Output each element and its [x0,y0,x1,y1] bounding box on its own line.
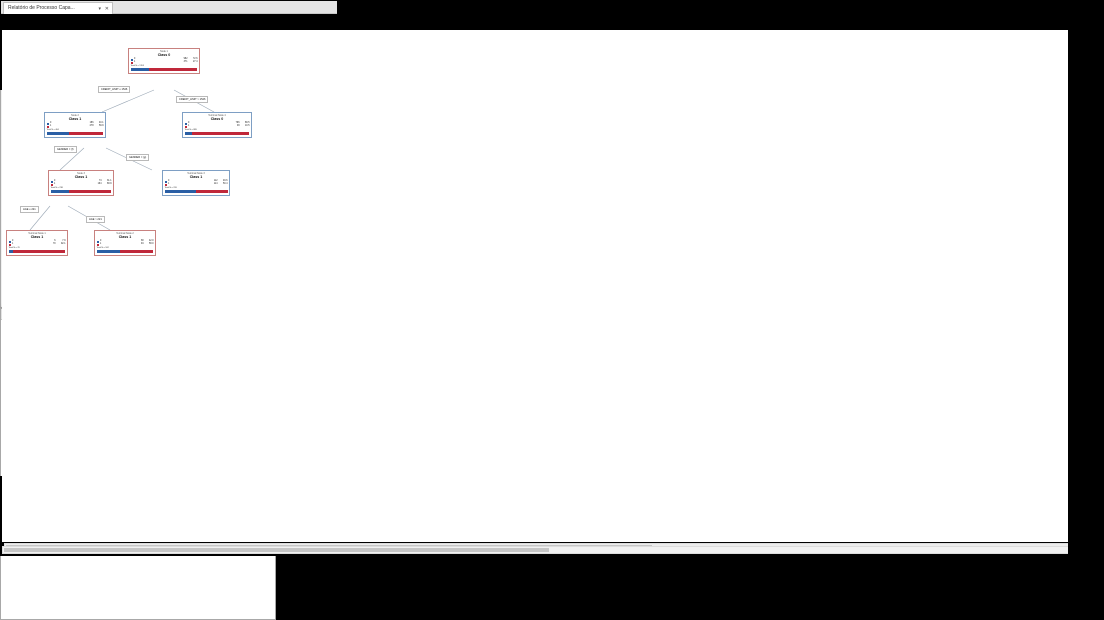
cart-tree-canvas: Node 1Class 0098272.6137127.4Total N = 1… [2,30,1094,542]
cart-node[interactable]: Terminal Node 4Class 0079689.519310.5Tot… [182,112,252,138]
cart-node-title: Class 1 [47,117,104,121]
cart-node[interactable]: Terminal Node 3Class 1011249.6111450.4To… [162,170,230,196]
class-swatch [51,184,54,187]
cart-node-bar [51,190,112,193]
class-swatch [165,184,168,187]
cart-node[interactable]: Node 3Class 107431.1116468.9Total N = 23… [48,170,114,196]
class-pct: 27.4 [189,61,198,64]
class-pct: 59.9 [95,125,104,128]
cart-tree-edges [2,30,1094,542]
cart-node-bar [131,68,198,71]
cart-node-bar [165,190,228,193]
class-count: 278 [57,125,94,128]
class-swatch [47,126,50,129]
cart-node-row: 116468.9 [51,183,112,186]
cart-split-label: AGE ≤ 221 [20,206,39,213]
cart-split-label: CREDIT_LIMIT > 1546 [176,96,208,103]
cart-node-row: 19458.0 [97,243,154,246]
cart-node-row: 17092.1 [9,243,66,246]
cart-split-label: CREDIT_LIMIT ≤ 1546 [98,86,130,93]
cart-node-title: Class 0 [185,117,250,121]
backdrop-right [1068,0,1104,556]
tab-process-capability-report[interactable]: Relatório de Processo Capa... ▾ ✕ [3,2,113,14]
class-swatch [97,244,100,247]
cart-node-table: 07431.1116468.9 [51,180,112,186]
class-pct: 10.5 [241,125,250,128]
class-label: 1 [54,183,60,186]
cart-node-table: 079689.519310.5 [185,122,250,128]
class-count: 114 [175,183,218,186]
class-count: 93 [195,125,240,128]
cart-node-bar [47,132,104,135]
cart-node-table: 098272.6137127.4 [131,58,198,64]
cart-node-title: Class 1 [9,235,66,239]
cart-node[interactable]: Terminal Node 1Class 1067.917092.1Total … [6,230,68,256]
cart-split-label: AGE > 221 [86,216,105,223]
cart-node[interactable]: Terminal Node 2Class 106842.019458.0Tota… [94,230,156,256]
cart-node-row: 137127.4 [131,61,198,64]
minitab-tab-bar: Relatório de Processo Capa... ▾ ✕ [1,1,337,14]
cart-node-title: Class 1 [97,235,154,239]
cart-node-title: Class 1 [165,175,228,179]
cart-classification-window[interactable]: 4 Node Alternative CART ®... SCORAD 4 No… [0,308,276,620]
class-pct: 50.4 [219,183,228,186]
chevron-down-icon[interactable]: ▾ [98,6,101,12]
cart-node-table: 067.917092.1 [9,240,66,246]
class-label: 1 [50,125,56,128]
scrollbar-thumb[interactable] [4,548,549,552]
class-pct: 92.1 [57,243,66,246]
class-count: 94 [107,243,144,246]
tab-label: Relatório de Processo Capa... [8,5,75,11]
cart-node-bar [97,250,154,253]
cart-node-table: 06842.019458.0 [97,240,154,246]
cart-node-row: 127859.9 [47,125,104,128]
cart-node-row: 111450.4 [165,183,228,186]
class-swatch [131,62,134,65]
class-label: 1 [188,125,194,128]
cart-node-table: 011249.6111450.4 [165,180,228,186]
cart-node-title: Class 1 [51,175,112,179]
class-label: 1 [134,61,140,64]
class-count: 70 [19,243,56,246]
class-pct: 68.9 [103,183,112,186]
class-swatch [9,244,12,247]
class-label: 1 [12,243,18,246]
class-pct: 58.0 [145,243,154,246]
cart-node[interactable]: Node 2Class 1018640.1127859.9Total N = 4… [44,112,106,138]
cart-node-row: 19310.5 [185,125,250,128]
cart-node-bar [185,132,250,135]
class-count: 371 [141,61,188,64]
class-label: 1 [168,183,174,186]
cart-node[interactable]: Node 1Class 0098272.6137127.4Total N = 1… [128,48,200,74]
class-swatch [185,126,188,129]
cart-node-bar [9,250,66,253]
close-icon[interactable]: ✕ [105,6,109,12]
cart-split-label: GENDER = (f) [54,146,77,153]
cart-node-table: 018640.1127859.9 [47,122,104,128]
class-count: 164 [61,183,102,186]
class-label: 1 [100,243,106,246]
cart-split-label: GENDER = (g) [126,154,149,161]
cart-horizontal-scrollbar[interactable] [2,546,1094,554]
cart-node-title: Class 0 [131,53,198,57]
